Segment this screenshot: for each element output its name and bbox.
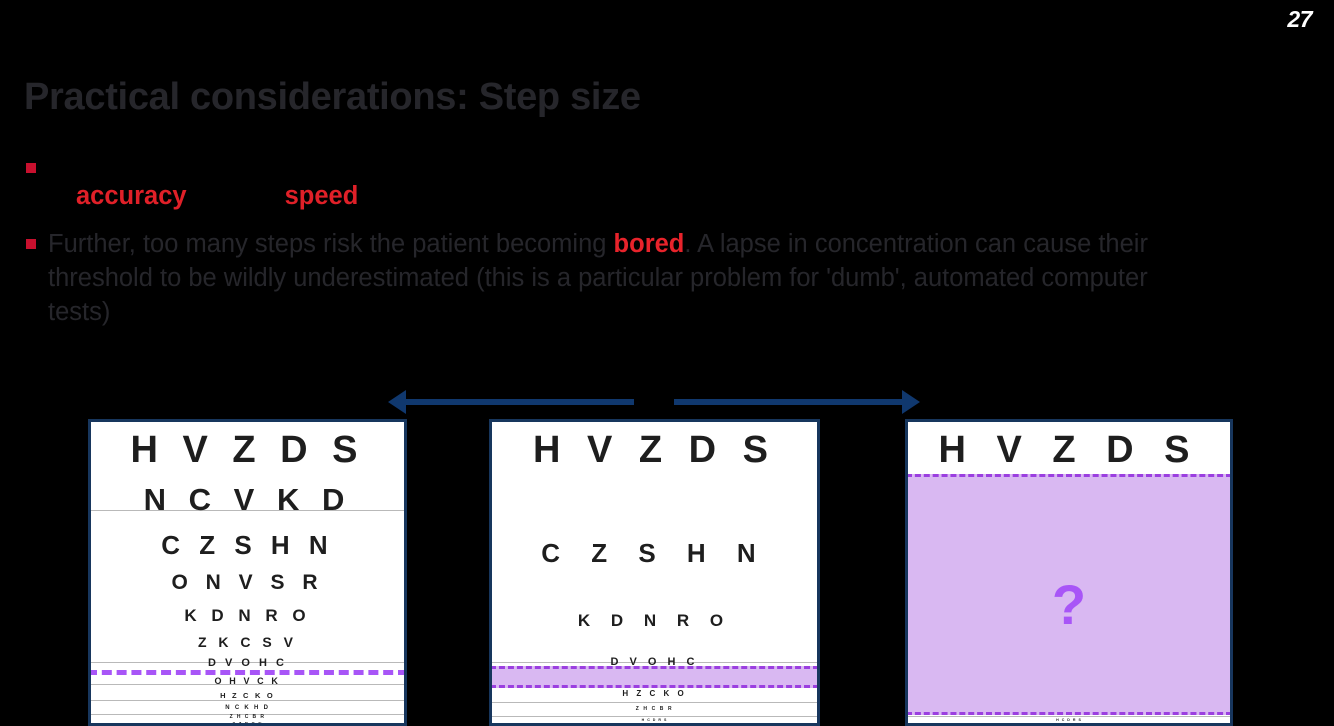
chart-hairline (492, 716, 817, 717)
bullet-accent-line: accuracyspeed (48, 180, 1200, 214)
eye-chart-inner: H V Z D S H C D R S ? (908, 422, 1230, 723)
eye-chart-row: Z H C B R (492, 707, 817, 712)
list-item-bored: Further, too many steps risk the patient… (20, 228, 1200, 330)
bullet-text-bored: Further, too many steps risk the patient… (48, 228, 1200, 330)
list-item-accuracy-speed: Choosing a step size is a trade-off betw… (20, 150, 1200, 214)
slide-number: 27 (1287, 8, 1312, 31)
bullet-marker-icon (26, 239, 36, 249)
eye-chart-row: K D N R O (91, 607, 404, 624)
eye-chart-row: N C V K D (91, 484, 404, 515)
increase-step-size-arrow-icon (674, 390, 920, 414)
decrease-step-size-arrow-icon (388, 390, 634, 414)
eye-chart-row: H V Z D S (91, 431, 404, 469)
bullet-text-accuracy-speed: Choosing a step size is a trade-off betw… (48, 150, 1200, 214)
arrow-shaft (674, 399, 904, 405)
threshold-uncertainty-block: ? (906, 474, 1232, 715)
eye-chart-row: Z K C S V (91, 635, 404, 649)
chart-hairline (908, 716, 1230, 717)
bullet-bored-part-1: Further, too many steps risk the patient… (48, 230, 614, 258)
eye-chart-row: H Z C K O (91, 692, 404, 700)
accent-speed: speed (285, 182, 359, 210)
accent-accuracy: accuracy (76, 182, 187, 210)
threshold-uncertainty-band (490, 666, 819, 688)
eye-chart-too-coarse-steps: H V Z D S H C D R S ? (905, 419, 1233, 726)
eye-chart-row: D V O H C (91, 658, 404, 669)
page-title: Practical considerations: Step size (24, 76, 641, 119)
uncertainty-question-mark: ? (906, 577, 1232, 633)
bullet-marker-icon (26, 163, 36, 173)
eye-chart-inner: H V Z D S C Z S H N K D N R O D V O H C … (492, 422, 817, 723)
eye-chart-row: H V Z D S (492, 431, 817, 469)
step-size-arrows (0, 390, 1334, 420)
eye-chart-row: H C D R S (908, 719, 1230, 723)
eye-chart-row: H C D R S (492, 719, 817, 723)
eye-chart-row: O N V S R (91, 572, 404, 593)
arrow-shaft (404, 399, 634, 405)
eye-chart-row: Z H C B R (91, 715, 404, 720)
eye-chart-inner: H V Z D S N C V K D C Z S H N O N V S R … (91, 422, 404, 723)
eye-chart-row: H V Z D S (908, 431, 1230, 469)
eye-chart-row: S Z R O N (91, 722, 404, 726)
threshold-dashed-line (88, 670, 407, 675)
accent-bored: bored (614, 230, 685, 258)
arrow-head-right-icon (902, 390, 920, 414)
eye-chart-row: H Z C K O (492, 690, 817, 698)
chart-hairline (91, 700, 404, 701)
eye-chart-coarse-steps: H V Z D S C Z S H N K D N R O D V O H C … (489, 419, 820, 726)
bullet-hidden-prefix: Choosing a step size is a trade-off betw… (48, 150, 1200, 180)
eye-chart-row: K D N R O (492, 612, 817, 629)
eye-chart-fine-steps: H V Z D S N C V K D C Z S H N O N V S R … (88, 419, 407, 726)
eye-chart-row: N C K H D (91, 705, 404, 711)
eye-chart-row: O H V C K (91, 677, 404, 686)
eye-chart-row: C Z S H N (492, 540, 817, 566)
eye-chart-row: C Z S H N (91, 532, 404, 558)
bullet-list: Choosing a step size is a trade-off betw… (20, 150, 1200, 332)
chart-hairline (492, 702, 817, 703)
